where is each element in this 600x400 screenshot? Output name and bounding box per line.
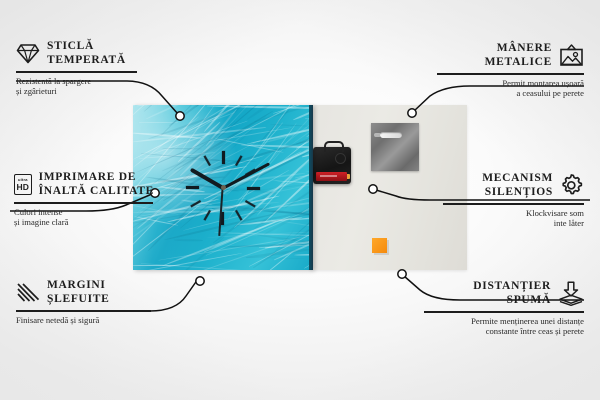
clock-movement: [313, 147, 351, 184]
clock-tick-mark: [204, 155, 211, 166]
clock-center-cap: [221, 185, 226, 190]
feature-title: MECANISM SILENȚIOS: [482, 172, 553, 199]
clock-tick-mark: [222, 212, 225, 225]
feature-desc-line1: Culori intense: [14, 207, 154, 218]
ultra-hd-icon: ultra HD: [14, 174, 32, 195]
feature-title: MÂNERE METALICE: [485, 42, 552, 69]
product-image: [133, 105, 467, 270]
feature-desc-line1: Permit montarea ușoară: [437, 78, 584, 89]
feature-title: STICLĂ TEMPERATĂ: [47, 40, 126, 67]
feature-title: IMPRIMARE DE ÎNALTĂ CALITATE: [39, 171, 154, 198]
framed-picture-icon: [559, 44, 584, 67]
feature-rule: [424, 311, 584, 313]
feature-rule: [16, 71, 137, 73]
ultra-hd-icon-main-text: HD: [16, 183, 29, 192]
glass-edge: [309, 105, 313, 270]
diamond-icon: [16, 43, 40, 64]
hanger-slot: [380, 132, 402, 138]
battery: [316, 172, 347, 181]
feature-metal-handles[interactable]: MÂNERE METALICE Permit montarea ușoară a…: [437, 42, 584, 99]
metal-hanger-plate: [371, 123, 419, 171]
feature-rule: [443, 203, 584, 205]
feature-foam-spacer[interactable]: DISTANȚIER SPUMĂ Permite menținerea unei…: [424, 280, 584, 337]
feature-silent-mechanism[interactable]: MECANISM SILENȚIOS Klockvisare som inte …: [443, 172, 584, 229]
feature-title: DISTANȚIER SPUMĂ: [473, 280, 551, 307]
arrow-onto-layers-icon: [558, 281, 584, 306]
feature-rule: [16, 310, 151, 312]
feature-desc-line2: constante între ceas și perete: [424, 326, 584, 337]
feature-tempered-glass[interactable]: STICLĂ TEMPERATĂ Rezistentă la spargere …: [16, 40, 152, 97]
feature-desc-line2: și imagine clară: [14, 217, 154, 228]
feature-header: DISTANȚIER SPUMĂ: [424, 280, 584, 307]
leader-dot-foam-spacer: [398, 270, 406, 278]
feature-header: MARGINI ȘLEFUITE: [16, 279, 152, 306]
feature-desc-line1: Klockvisare som: [443, 208, 584, 219]
feature-polished-edges[interactable]: MARGINI ȘLEFUITE Finisare netedă și sigu…: [16, 279, 152, 325]
feature-header: ultra HD IMPRIMARE DE ÎNALTĂ CALITATE: [14, 171, 154, 198]
feature-hd-print[interactable]: ultra HD IMPRIMARE DE ÎNALTĂ CALITATE Cu…: [14, 171, 154, 228]
infographic-canvas: STICLĂ TEMPERATĂ Rezistentă la spargere …: [0, 0, 600, 400]
feature-rule: [437, 73, 584, 75]
feature-desc-line1: Permite menținerea unei distanțe: [424, 316, 584, 327]
clock-tick-mark: [186, 186, 199, 189]
movement-hanger-loop: [324, 141, 344, 152]
gear-icon: [560, 174, 584, 198]
feature-desc-line2: a ceasului pe perete: [437, 88, 584, 99]
movement-dial: [335, 153, 346, 164]
clock-front-panel: [133, 105, 313, 270]
feature-desc-line1: Finisare netedă și sigură: [16, 315, 152, 326]
feature-desc-line2: inte låter: [443, 218, 584, 229]
clock-tick-mark: [190, 200, 201, 207]
feature-desc-line1: Rezistentă la spargere: [16, 76, 152, 87]
feature-header: MECANISM SILENȚIOS: [443, 172, 584, 199]
battery-stripe: [320, 175, 337, 177]
feature-header: MÂNERE METALICE: [437, 42, 584, 69]
clock-tick-mark: [204, 210, 211, 221]
feature-title: MARGINI ȘLEFUITE: [47, 279, 109, 306]
feature-desc-line2: și zgârieturi: [16, 86, 152, 97]
leader-dot-polished-edges: [196, 277, 204, 285]
feature-rule: [14, 202, 153, 204]
foam-spacer: [372, 238, 387, 253]
feature-header: STICLĂ TEMPERATĂ: [16, 40, 152, 67]
diagonal-lines-icon: [16, 282, 40, 303]
